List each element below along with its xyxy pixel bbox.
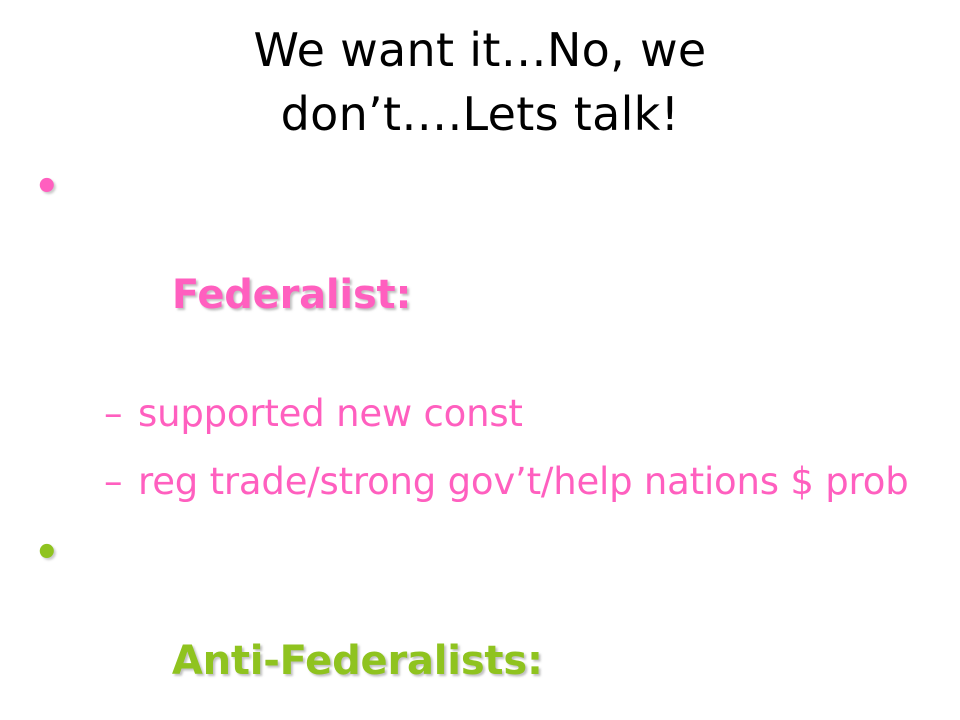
- sub-bullet-label: supported new const: [138, 386, 960, 442]
- bullet-dot-icon: •: [34, 160, 59, 214]
- bullet-heading-label: Anti-Federalists:: [172, 638, 543, 684]
- title-line-1: We want it…No, we: [0, 18, 960, 82]
- sub-bullet-federalist-1: – supported new const: [0, 386, 960, 442]
- spacer: [0, 442, 960, 454]
- bullet-heading-anti-federalist: • Anti-Federalists:: [0, 526, 960, 720]
- bullet-group-federalist: • Federalist: – supported new const – re…: [0, 160, 960, 510]
- spacer: [0, 510, 960, 526]
- slide-canvas: We want it…No, we don’t….Lets talk! • Fe…: [0, 0, 960, 720]
- title-line-2: don’t….Lets talk!: [0, 82, 960, 146]
- sub-bullet-federalist-2: – reg trade/strong gov’t/help nations $ …: [0, 454, 960, 510]
- dash-icon: –: [104, 386, 122, 442]
- slide-body: • Federalist: – supported new const – re…: [0, 160, 960, 720]
- bullet-heading-federalist: • Federalist:: [0, 160, 960, 376]
- sub-bullet-label: reg trade/strong gov’t/help nations $ pr…: [138, 454, 960, 510]
- bullet-heading-label: Federalist:: [172, 272, 411, 318]
- bullet-dot-icon: •: [34, 526, 59, 580]
- spacer: [0, 376, 960, 386]
- dash-icon: –: [104, 454, 122, 510]
- slide-title: We want it…No, we don’t….Lets talk!: [0, 18, 960, 146]
- bullet-group-anti-federalist: • Anti-Federalists: – anti new const – f…: [0, 526, 960, 720]
